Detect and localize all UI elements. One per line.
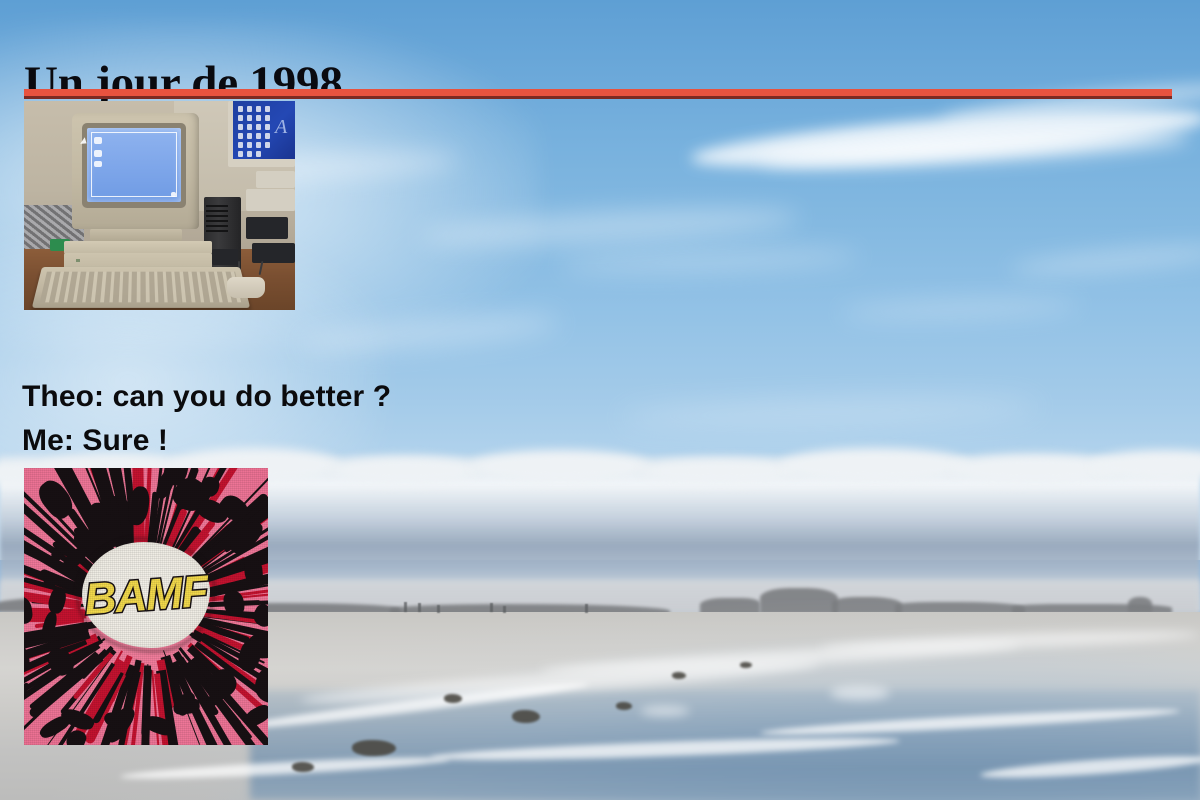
second-monitor: A [228, 101, 295, 167]
shore-rock [672, 672, 686, 679]
desktop-logo: A [275, 117, 293, 139]
electronics-box [246, 217, 288, 239]
desktop-icon [94, 150, 102, 157]
second-monitor-screen: A [233, 101, 295, 159]
red-horizontal-rule [24, 89, 1172, 96]
keyboard [32, 267, 250, 308]
shore-rock [616, 702, 632, 710]
desktop-icon [171, 192, 176, 197]
desktop-window-frame [91, 132, 177, 197]
shore-rock [352, 740, 396, 756]
shore-rock [444, 694, 462, 703]
sea-sparkle [640, 706, 690, 716]
crt-screen [87, 128, 181, 202]
electronics-box [252, 243, 295, 263]
monitor-stand [90, 229, 182, 241]
sea-sparkle [830, 686, 890, 700]
peripheral-box [256, 171, 295, 188]
desktop-icon [94, 137, 102, 144]
mouse [227, 277, 265, 298]
bamf-halftone-grain [24, 468, 268, 745]
shore-rock [740, 662, 752, 668]
dialogue-line-me: Me: Sure ! [22, 419, 391, 463]
shore-rock [292, 762, 314, 772]
desktop-icon [94, 161, 102, 167]
dialogue-block: Theo: can you do better ? Me: Sure ! [22, 375, 391, 463]
vintage-computer-photo: A [24, 101, 295, 310]
dialogue-line-theo: Theo: can you do better ? [22, 375, 391, 419]
slide-canvas: Un jour de 1998 [0, 0, 1200, 800]
bamf-comic-explosion: BAMF [24, 468, 268, 745]
shore-rock [512, 710, 540, 723]
power-led [76, 259, 80, 262]
power-brick [212, 249, 238, 265]
keyboard-keys [40, 272, 243, 303]
peripheral-box [246, 189, 295, 211]
